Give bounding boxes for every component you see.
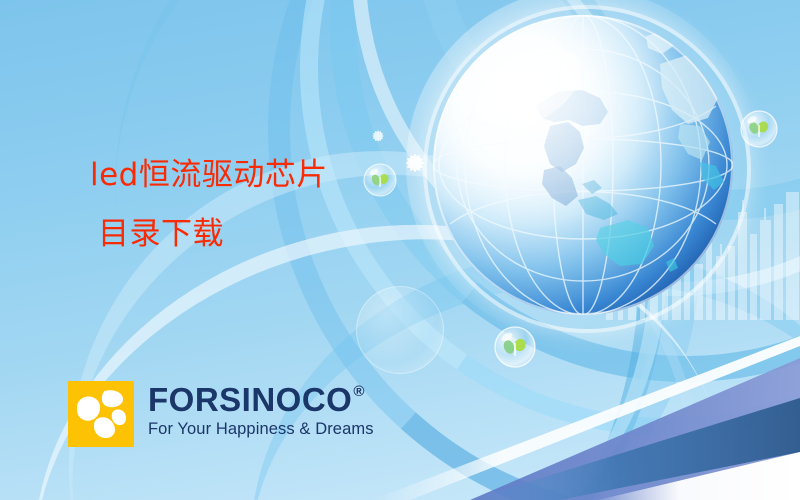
logo-tagline: For Your Happiness & Dreams — [148, 420, 374, 439]
headline-line-1: led恒流驱动芯片 — [90, 160, 404, 191]
headline-line-2: 目录下载 — [98, 219, 404, 250]
four-petal-flower-icon — [68, 381, 134, 447]
globe-sphere — [432, 14, 734, 316]
leaf-bubble-icon — [740, 110, 778, 148]
logo-wordmark-text: FORSINOCO — [148, 383, 352, 416]
earth-globe-icon — [432, 14, 734, 316]
registered-trademark-icon: ® — [353, 384, 365, 399]
soft-bubble-icon — [356, 286, 444, 374]
banner-canvas: led恒流驱动芯片 目录下载 FORSINOCO ® — [0, 0, 800, 500]
globe-rim — [423, 5, 751, 333]
flower-sparkle-icon — [366, 124, 390, 148]
swirl-ribbon-icon — [389, 0, 800, 241]
logo-wordmark: FORSINOCO ® — [148, 383, 374, 416]
cityscape-silhouette-icon — [590, 190, 800, 320]
leaf-bubble-icon — [494, 326, 536, 368]
logo-text-block: FORSINOCO ® For Your Happiness & Dreams — [148, 381, 374, 439]
forsinoco-logo[interactable]: FORSINOCO ® For Your Happiness & Dreams — [68, 381, 374, 447]
globe-glow — [406, 0, 760, 342]
headline-block: led恒流驱动芯片 目录下载 — [74, 160, 404, 250]
